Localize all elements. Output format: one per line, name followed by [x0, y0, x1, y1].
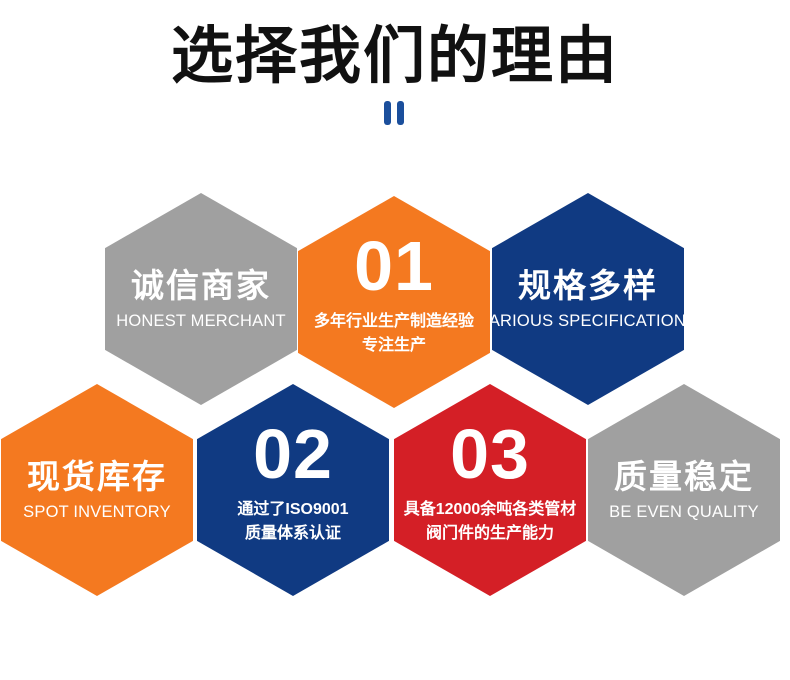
hex-title-en: BE EVEN QUALITY [609, 503, 759, 521]
hex-desc-line-2: 质量体系认证 [245, 522, 341, 546]
hexagon-grid: 诚信商家 HONEST MERCHANT 01 多年行业生产制造经验 专注生产 … [0, 0, 790, 680]
hex-desc-line-2: 阀门件的生产能力 [426, 522, 554, 546]
hex-card-various-specifications[interactable]: 规格多样 VARIOUS SPECIFICATIONS [492, 193, 684, 405]
hex-title-en: VARIOUS SPECIFICATIONS [479, 312, 697, 330]
hex-number: 01 [354, 232, 434, 301]
hex-number: 03 [450, 420, 530, 489]
hex-desc-line-1: 多年行业生产制造经验 [314, 310, 474, 334]
hex-card-spot-inventory[interactable]: 现货库存 SPOT INVENTORY [1, 384, 193, 596]
hex-card-even-quality[interactable]: 质量稳定 BE EVEN QUALITY [588, 384, 780, 596]
hex-title-cn: 质量稳定 [614, 458, 754, 496]
hex-card-iso9001[interactable]: 02 通过了ISO9001 质量体系认证 [197, 384, 389, 596]
hex-title-cn: 现货库存 [27, 458, 167, 496]
hex-card-experience[interactable]: 01 多年行业生产制造经验 专注生产 [298, 196, 490, 408]
hex-title-cn: 规格多样 [518, 267, 658, 305]
hex-title-cn: 诚信商家 [131, 267, 271, 305]
hex-card-capacity[interactable]: 03 具备12000余吨各类管材 阀门件的生产能力 [394, 384, 586, 596]
hex-desc-line-1: 通过了ISO9001 [237, 498, 348, 522]
hex-card-honest-merchant[interactable]: 诚信商家 HONEST MERCHANT [105, 193, 297, 405]
hex-title-en: SPOT INVENTORY [23, 503, 171, 521]
hex-title-en: HONEST MERCHANT [116, 312, 286, 330]
hex-desc-line-1: 具备12000余吨各类管材 [404, 498, 577, 522]
hex-number: 02 [253, 420, 333, 489]
hex-desc-line-2: 专注生产 [362, 334, 426, 358]
promo-banner: 选择我们的理由 诚信商家 HONEST MERCHANT 01 多年行业生产制造… [0, 0, 790, 680]
